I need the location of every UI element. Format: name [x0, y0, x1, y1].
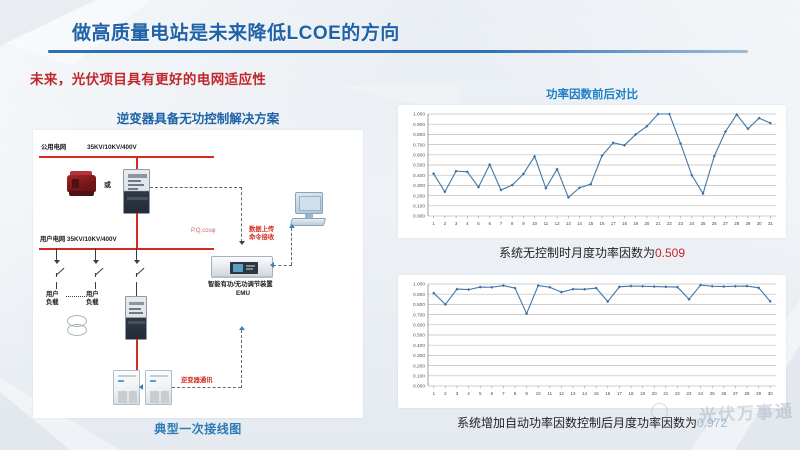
user-grid-label: 用户电网 35KV/10KV/400V	[40, 236, 117, 244]
branch-line-3c	[136, 282, 137, 296]
svg-text:29: 29	[756, 391, 761, 396]
pc-uplink-arrow-icon	[289, 224, 295, 228]
page-title: 做高质量电站是未来降低LCOE的方向	[72, 18, 400, 45]
user-grid-busbar	[39, 248, 214, 250]
svg-text:30: 30	[768, 391, 773, 396]
load-dotted-connector	[66, 296, 85, 297]
svg-text:0.600: 0.600	[413, 153, 425, 159]
svg-text:24: 24	[689, 221, 694, 226]
emu-controller-icon	[211, 256, 273, 278]
emu-name-label: EMU	[236, 290, 250, 298]
svg-text:14: 14	[577, 221, 582, 226]
diagram-caption: 典型一次接线图	[33, 420, 363, 437]
svg-text:0.100: 0.100	[413, 374, 425, 380]
svg-text:20: 20	[652, 391, 657, 396]
chart-canvas-top: 0.0000.1000.2000.3000.4000.5000.6000.700…	[398, 105, 786, 238]
svg-text:1.000: 1.000	[413, 112, 425, 118]
svg-text:19: 19	[633, 221, 638, 226]
svg-text:0.800: 0.800	[413, 132, 425, 138]
svg-text:27: 27	[733, 391, 738, 396]
svg-text:6: 6	[489, 221, 492, 226]
svg-text:0.000: 0.000	[413, 214, 425, 220]
svg-text:7: 7	[500, 221, 503, 226]
svg-text:15: 15	[588, 221, 593, 226]
inverter-comm-arrow-icon	[239, 326, 245, 330]
branch-arrow-3-icon	[134, 260, 140, 264]
svg-text:26: 26	[712, 221, 717, 226]
electric-meter-icon	[123, 169, 150, 214]
inverter-cabinet-icon-1	[113, 370, 140, 405]
svg-text:28: 28	[734, 221, 739, 226]
pq-cos-label: P,Q,cosφ	[191, 228, 215, 234]
svg-text:2: 2	[444, 221, 447, 226]
title-divider	[48, 50, 748, 53]
svg-text:0.300: 0.300	[413, 183, 425, 189]
svg-text:21: 21	[656, 221, 661, 226]
svg-text:28: 28	[745, 391, 750, 396]
svg-text:1.000: 1.000	[413, 282, 425, 288]
chart-caption-top: 系统无控制时月度功率因数为0.509	[392, 244, 792, 261]
svg-text:12: 12	[555, 221, 560, 226]
or-label: 或	[104, 182, 111, 191]
svg-text:0.000: 0.000	[413, 384, 425, 390]
branch-line-1c	[56, 282, 57, 289]
wiring-diagram-section: 逆变器具备无功控制解决方案 公用电网 35KV/10KV/400V 或 用	[18, 108, 378, 440]
svg-text:11: 11	[548, 391, 553, 396]
svg-text:21: 21	[663, 391, 668, 396]
branch-line-2c	[95, 282, 96, 289]
svg-text:24: 24	[698, 391, 703, 396]
svg-text:0.300: 0.300	[413, 353, 425, 359]
public-grid-busbar	[39, 156, 214, 158]
svg-text:16: 16	[605, 391, 610, 396]
svg-text:17: 17	[611, 221, 616, 226]
inverter-comm-riser	[241, 330, 242, 388]
caption-prefix-bottom: 系统增加自动功率因数控制后月度功率因数为	[457, 416, 697, 430]
svg-text:22: 22	[667, 221, 672, 226]
chart-power-factor-after: 0.0000.1000.2000.3000.4000.5000.6000.700…	[392, 272, 792, 442]
public-grid-voltage-label: 35KV/10KV/400V	[87, 144, 137, 152]
svg-text:0.900: 0.900	[413, 292, 425, 298]
svg-text:0.200: 0.200	[413, 193, 425, 199]
svg-text:0.800: 0.800	[413, 302, 425, 308]
svg-text:18: 18	[622, 221, 627, 226]
electric-meter-icon-2	[125, 296, 147, 340]
caption-prefix-top: 系统无控制时月度功率因数为	[499, 246, 655, 260]
meter-top-feed-line	[136, 156, 138, 170]
svg-text:0.600: 0.600	[413, 323, 425, 329]
inverter-cabinet-icon-2	[145, 370, 172, 405]
svg-text:8: 8	[511, 221, 514, 226]
svg-text:22: 22	[675, 391, 680, 396]
keyboard-icon	[290, 218, 326, 226]
svg-text:0.900: 0.900	[413, 122, 425, 128]
svg-text:10: 10	[536, 391, 541, 396]
meter-data-dashed-line	[150, 187, 242, 188]
branch-line-1b	[56, 273, 57, 277]
meter-data-dashed-drop	[241, 187, 242, 242]
emu-to-uplink-dashed	[273, 265, 292, 266]
user-load-label-1: 用户负载	[46, 291, 59, 307]
chart-caption-bottom: 系统增加自动功率因数控制后月度功率因数为0.972	[392, 414, 792, 431]
svg-text:7: 7	[502, 391, 505, 396]
emu-device-label: 智能有功/无功调节装置	[208, 281, 273, 289]
public-grid-label: 公用电网	[41, 144, 66, 152]
svg-text:30: 30	[757, 221, 762, 226]
svg-text:16: 16	[600, 221, 605, 226]
svg-text:1: 1	[432, 221, 435, 226]
svg-text:23: 23	[678, 221, 683, 226]
current-transformer-icon	[65, 171, 99, 197]
svg-text:19: 19	[640, 391, 645, 396]
svg-text:4: 4	[467, 391, 470, 396]
inverter-link-arrow-icon	[139, 384, 143, 390]
svg-text:27: 27	[723, 221, 728, 226]
chart-canvas-bottom: 0.0000.1000.2000.3000.4000.5000.6000.700…	[398, 275, 786, 408]
branch-line-2b	[95, 273, 96, 277]
caption-value-top: 0.509	[655, 246, 685, 260]
svg-text:13: 13	[566, 221, 571, 226]
user-load-label-2: 用户负载	[86, 291, 99, 307]
svg-text:17: 17	[617, 391, 622, 396]
chart-power-factor-before: 功率因数前后对比 0.0000.1000.2000.3000.4000.5000…	[392, 86, 792, 266]
svg-text:0.700: 0.700	[413, 312, 425, 318]
branch-line-3b	[136, 273, 137, 277]
svg-text:26: 26	[721, 391, 726, 396]
svg-text:6: 6	[491, 391, 494, 396]
svg-text:10: 10	[532, 221, 537, 226]
chart-svg-top: 0.0000.1000.2000.3000.4000.5000.6000.700…	[398, 105, 786, 238]
svg-text:15: 15	[594, 391, 599, 396]
meter-data-arrow-icon	[239, 241, 245, 245]
svg-text:9: 9	[522, 221, 525, 226]
svg-text:20: 20	[644, 221, 649, 226]
inverter-comm-dashed-line	[172, 387, 241, 388]
svg-text:0.100: 0.100	[413, 204, 425, 210]
branch-arrow-2-icon	[93, 260, 99, 264]
svg-text:5: 5	[479, 391, 482, 396]
svg-text:23: 23	[687, 391, 692, 396]
svg-text:1: 1	[433, 391, 436, 396]
diagram-title: 逆变器具备无功控制解决方案	[18, 108, 378, 127]
svg-text:13: 13	[571, 391, 576, 396]
svg-text:4: 4	[466, 221, 469, 226]
svg-text:25: 25	[701, 221, 706, 226]
svg-text:0.400: 0.400	[413, 173, 425, 179]
chart-title-top: 功率因数前后对比	[392, 86, 792, 102]
svg-text:8: 8	[514, 391, 517, 396]
svg-text:5: 5	[477, 221, 480, 226]
svg-text:0.500: 0.500	[413, 333, 425, 339]
svg-text:3: 3	[456, 391, 459, 396]
data-upload-label: 数据上传命令接收	[249, 226, 274, 242]
svg-text:9: 9	[525, 391, 528, 396]
svg-text:3: 3	[455, 221, 458, 226]
computer-monitor-icon	[295, 192, 323, 214]
svg-text:18: 18	[629, 391, 634, 396]
svg-text:31: 31	[768, 221, 773, 226]
meter-bottom-feed-line	[136, 213, 138, 249]
svg-text:25: 25	[710, 391, 715, 396]
emu-inbound-arrow-icon	[270, 262, 274, 268]
svg-text:0.200: 0.200	[413, 363, 425, 369]
slide-header: 做高质量电站是未来降低LCOE的方向	[0, 0, 800, 66]
branch-arrow-1-icon	[54, 260, 60, 264]
svg-text:0.400: 0.400	[413, 343, 425, 349]
svg-text:2: 2	[444, 391, 447, 396]
svg-text:11: 11	[544, 221, 549, 226]
svg-text:29: 29	[745, 221, 750, 226]
caption-value-bottom: 0.972	[697, 416, 727, 430]
chart-svg-bottom: 0.0000.1000.2000.3000.4000.5000.6000.700…	[398, 275, 786, 408]
inverter-feed-line	[136, 339, 138, 372]
inverter-comm-label: 逆变器通讯	[181, 377, 212, 385]
page-subtitle: 未来，光伏项目具有更好的电网适应性	[30, 68, 266, 88]
transformer-coil-icon-lower	[67, 324, 87, 336]
svg-text:0.700: 0.700	[413, 142, 425, 148]
svg-text:14: 14	[582, 391, 587, 396]
svg-text:12: 12	[559, 391, 564, 396]
svg-text:0.500: 0.500	[413, 163, 425, 169]
diagram-canvas: 公用电网 35KV/10KV/400V 或 用户电网 35KV/10KV/400…	[33, 130, 363, 418]
pc-uplink-dashed-line	[291, 228, 292, 265]
